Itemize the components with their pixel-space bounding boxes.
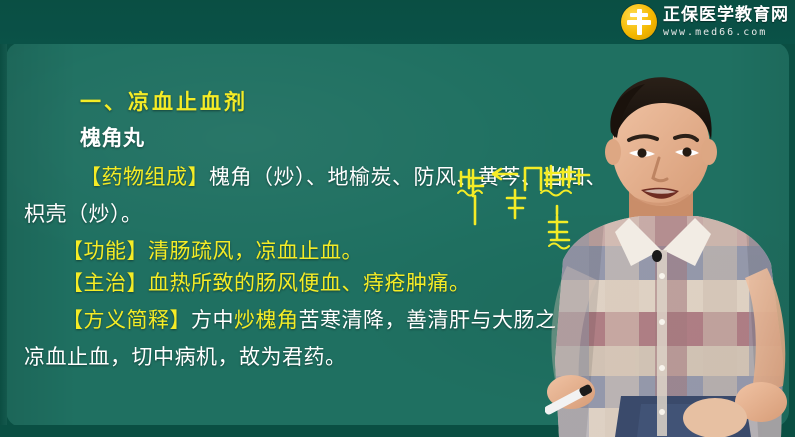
explanation-label: 【方义简释】	[62, 308, 191, 332]
formula-name: 槐角丸	[80, 126, 145, 150]
presenter-svg	[545, 60, 795, 437]
formula-name-line: 槐角丸	[24, 128, 145, 149]
panel-left-edge	[0, 42, 7, 427]
site-logo[interactable]: 正保医学教育网 www.med66.com	[621, 2, 789, 42]
site-url: www.med66.com	[663, 28, 789, 38]
function-text: 清肠疏风，凉血止血。	[148, 239, 363, 263]
indication-label: 【主治】	[62, 271, 148, 295]
explanation-text-2: 凉血止血，切中病机，故为君药。	[24, 345, 347, 369]
composition-label: 【药物组成】	[80, 165, 209, 189]
explanation-highlight: 炒槐角	[234, 308, 299, 332]
function-label: 【功能】	[62, 239, 148, 263]
indication-text: 血热所致的肠风便血、痔疮肿痛。	[148, 271, 471, 295]
lecture-video-frame: 正保医学教育网 www.med66.com 一、凉血止血剂 槐角丸 【药物组成】…	[0, 0, 795, 437]
site-name: 正保医学教育网	[663, 7, 789, 24]
explanation-line-2: 凉血止血，切中病机，故为君药。	[24, 347, 347, 368]
indication-line: 【主治】血热所致的肠风便血、痔疮肿痛。	[24, 273, 471, 294]
slide-heading-line: 一、凉血止血剂	[24, 92, 248, 113]
medical-cross-circle-icon	[621, 4, 657, 40]
explanation-text-a: 方中	[191, 308, 234, 332]
presenter-figure	[545, 60, 795, 437]
composition-text-2: 枳壳（炒）。	[24, 202, 143, 226]
page-title: 一、凉血止血剂	[80, 90, 248, 114]
composition-line-2: 枳壳（炒）。	[24, 204, 143, 225]
logo-text-group: 正保医学教育网 www.med66.com	[663, 7, 789, 38]
explanation-line-1: 【方义简释】方中炒槐角苦寒清降，善清肝与大肠之火而	[24, 310, 600, 331]
composition-line-1: 【药物组成】槐角（炒）、地榆炭、防风、黄芩、当归、	[24, 167, 607, 188]
function-line: 【功能】清肠疏风，凉血止血。	[24, 241, 363, 262]
